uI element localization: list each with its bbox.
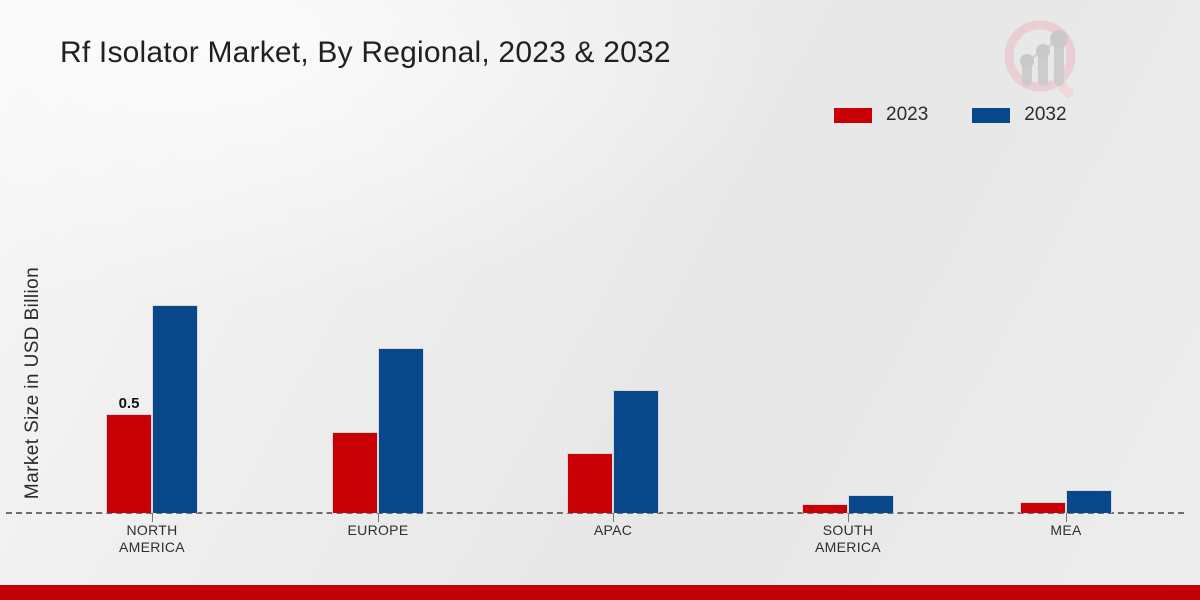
category-label-north-america: NORTH AMERICA — [52, 522, 252, 556]
category-label-line: EUROPE — [278, 522, 478, 539]
bar-2023-south-america[interactable] — [802, 504, 848, 513]
bar-group-mea — [914, 83, 1200, 513]
bars-mea — [1020, 490, 1112, 513]
bars-south-america — [802, 495, 894, 513]
bar-2023-mea[interactable] — [1020, 502, 1066, 513]
axis-tick-apac — [613, 513, 614, 522]
category-label-line: NORTH — [52, 522, 252, 539]
category-label-mea: MEA — [966, 522, 1166, 539]
bar-value-label-north-america-2023: 0.5 — [106, 395, 152, 412]
category-label-apac: APAC — [513, 522, 713, 539]
bar-2023-apac[interactable] — [567, 453, 613, 513]
axis-tick-north-america — [152, 513, 153, 522]
bar-2032-north-america[interactable] — [152, 305, 198, 513]
bar-2032-apac[interactable] — [613, 390, 659, 513]
category-label-south-america: SOUTH AMERICA — [748, 522, 948, 556]
axis-tick-europe — [378, 513, 379, 522]
category-label-line: SOUTH — [748, 522, 948, 539]
bottom-accent-bar — [0, 585, 1200, 600]
category-label-line: AMERICA — [52, 539, 252, 556]
bar-2032-mea[interactable] — [1066, 490, 1112, 513]
bar-2032-europe[interactable] — [378, 348, 424, 513]
bars-europe — [332, 348, 424, 513]
category-label-line: AMERICA — [748, 539, 948, 556]
axis-tick-mea — [1066, 513, 1067, 522]
bar-2032-south-america[interactable] — [848, 495, 894, 513]
bar-2023-europe[interactable] — [332, 432, 378, 513]
category-label-europe: EUROPE — [278, 522, 478, 539]
plot-area: 0.5 NORTH AMERICA EUROPE APAC — [0, 0, 1200, 600]
bars-apac — [567, 390, 659, 513]
category-label-line: MEA — [966, 522, 1166, 539]
chart-canvas: Rf Isolator Market, By Regional, 2023 & … — [0, 0, 1200, 600]
category-label-line: APAC — [513, 522, 713, 539]
bar-2023-north-america[interactable] — [106, 414, 152, 513]
axis-tick-south-america — [848, 513, 849, 522]
